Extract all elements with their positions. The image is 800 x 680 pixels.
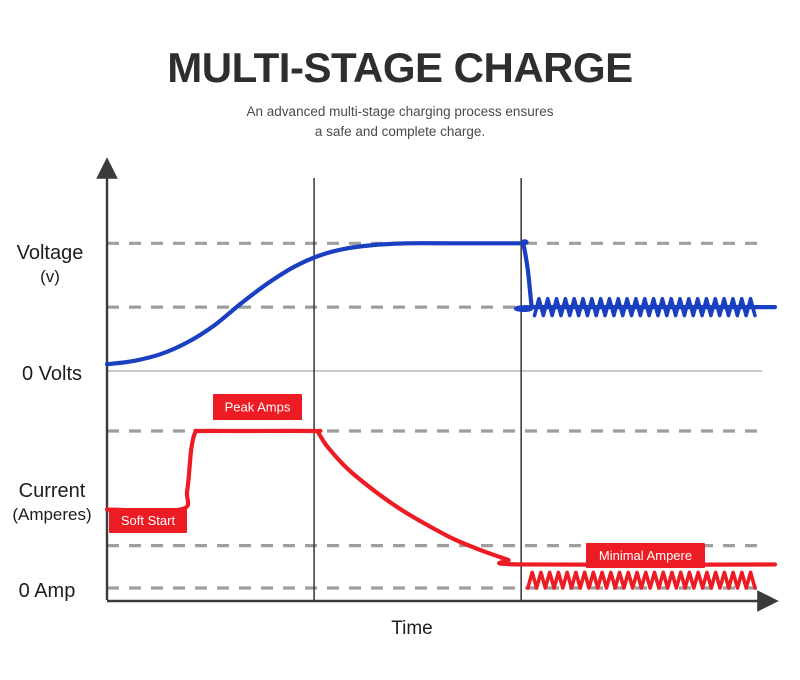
axis-labels-group: Voltage(v)0 VoltsCurrent(Amperes)0 AmpTi…: [12, 242, 432, 639]
voltage-axis-unit-label: (v): [40, 267, 60, 286]
annotation-badges-group: Soft StartPeak AmpsMinimal Ampere: [109, 394, 705, 568]
annotation-badge-label: Soft Start: [121, 513, 176, 528]
axes-group: [107, 168, 768, 601]
annotation-badge-peak-amps: Peak Amps: [213, 394, 302, 420]
x-axis-title: Time: [391, 618, 433, 639]
annotation-badge-soft-start: Soft Start: [109, 508, 187, 533]
current-axis-unit-label: (Amperes): [12, 505, 91, 524]
annotation-badge-label: Peak Amps: [225, 400, 291, 415]
current-zero-tick-label: 0 Amp: [19, 580, 76, 602]
annotation-badge-minimal-ampere: Minimal Ampere: [586, 543, 705, 568]
gridlines-group: [107, 243, 762, 588]
voltage-zero-tick-label: 0 Volts: [22, 363, 82, 385]
chart-page: MULTI-STAGE CHARGE An advanced multi-sta…: [0, 0, 800, 680]
curves-group: [107, 241, 775, 588]
chart-svg: Voltage(v)0 VoltsCurrent(Amperes)0 AmpTi…: [0, 0, 800, 680]
multi-stage-charge-chart: Voltage(v)0 VoltsCurrent(Amperes)0 AmpTi…: [0, 0, 800, 680]
voltage-curve: [107, 241, 775, 364]
current-ripple: [528, 572, 755, 588]
current-axis-label: Current: [19, 480, 86, 502]
annotation-badge-label: Minimal Ampere: [599, 548, 692, 563]
voltage-axis-label: Voltage: [17, 242, 84, 264]
